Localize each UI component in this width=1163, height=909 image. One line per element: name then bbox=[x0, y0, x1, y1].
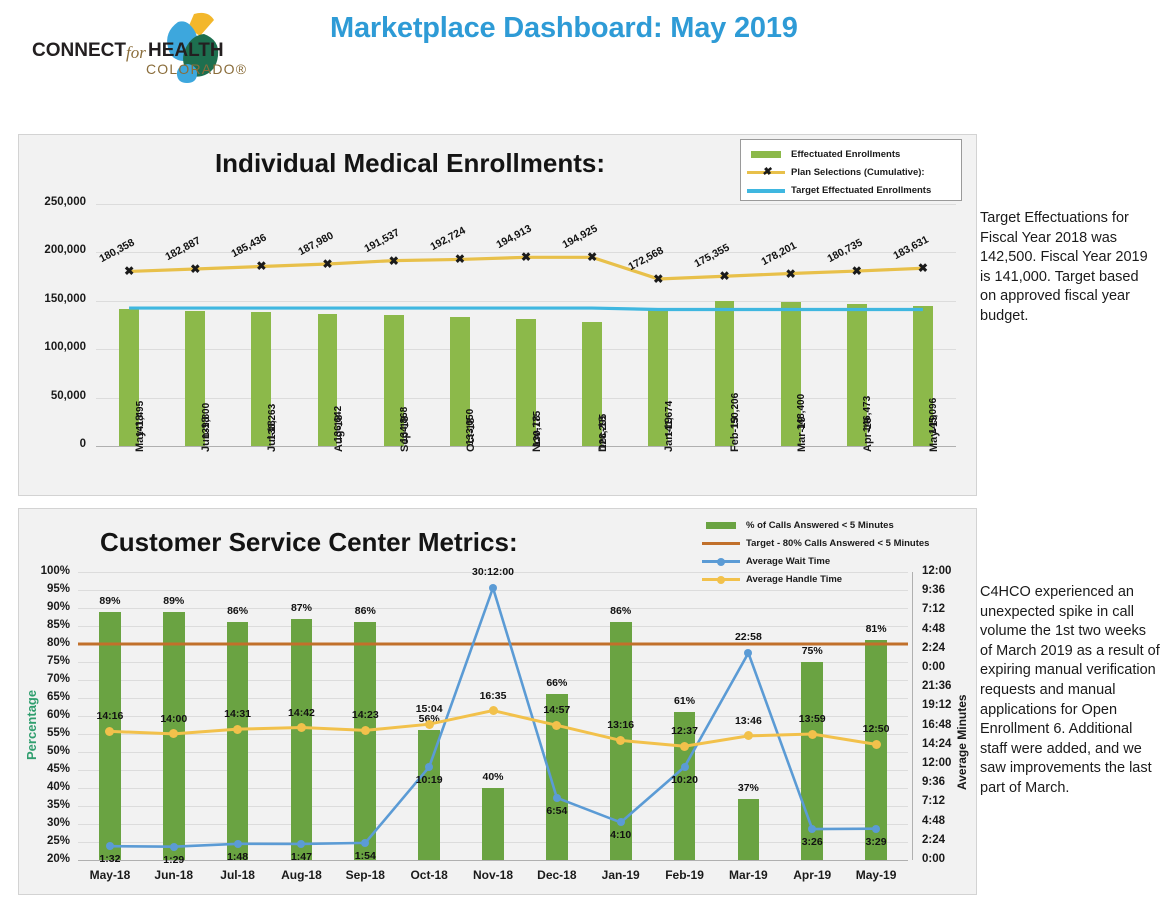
chart1-y-tick: 0 bbox=[10, 438, 86, 450]
legend-label: Plan Selections (Cumulative): bbox=[791, 167, 925, 178]
legend-label: Target - 80% Calls Answered < 5 Minutes bbox=[746, 538, 929, 549]
chart2-wait-time-point bbox=[234, 840, 242, 848]
connect-for-health-colorado-logo: CONNECT for HEALTH COLORADO® bbox=[18, 8, 248, 88]
chart2-x-label: Sep-18 bbox=[333, 868, 397, 882]
chart2-wait-time-label: 4:10 bbox=[585, 829, 657, 841]
chart2-y-tick-right: 12:00 bbox=[922, 565, 974, 577]
chart1-x-label: Jun-18 bbox=[200, 417, 212, 452]
legend-swatch-bar-icon bbox=[745, 148, 787, 160]
chart1-y-tick: 50,000 bbox=[10, 390, 86, 402]
chart2-handle-time-point bbox=[425, 720, 434, 729]
chart2-y-tick-right: 0:00 bbox=[922, 661, 974, 673]
chart1-plan-selection-marker-icon: ✖ bbox=[389, 256, 399, 266]
chart1-plan-selection-marker-icon: ✖ bbox=[719, 271, 729, 281]
chart2-y-axis-right bbox=[912, 572, 913, 860]
chart1-y-tick: 200,000 bbox=[10, 244, 86, 256]
legend-swatch-line-icon bbox=[745, 184, 787, 196]
chart2-y-tick-right: 16:48 bbox=[922, 719, 974, 731]
chart2-wait-time-point bbox=[872, 825, 880, 833]
legend-label: % of Calls Answered < 5 Minutes bbox=[746, 520, 894, 531]
chart2-y-tick-left: 60% bbox=[16, 709, 70, 721]
chart2-wait-time-label: 1:32 bbox=[74, 853, 146, 865]
chart2-x-label: May-18 bbox=[78, 868, 142, 882]
chart2-wait-time-point bbox=[681, 763, 689, 771]
chart1-y-tick: 250,000 bbox=[10, 196, 86, 208]
chart2-wait-time-point bbox=[553, 794, 561, 802]
legend-item-target-effectuated: Target Effectuated Enrollments bbox=[745, 182, 957, 198]
chart1-x-label: Apr-19 bbox=[862, 417, 874, 452]
chart1-x-label: Oct-18 bbox=[465, 418, 477, 452]
chart2-handle-time-label: 14:16 bbox=[80, 710, 140, 722]
chart1-x-label: Nov-18 bbox=[531, 415, 543, 452]
chart2-handle-time-label: 13:46 bbox=[718, 715, 778, 727]
chart2-y-tick-left: 70% bbox=[16, 673, 70, 685]
chart2-x-label: Jun-18 bbox=[142, 868, 206, 882]
chart2-handle-time-label: 12:50 bbox=[846, 723, 906, 735]
chart2-handle-time-label: 15:04 bbox=[399, 703, 459, 715]
chart2-y-tick-right: 2:24 bbox=[922, 642, 974, 654]
chart1-x-label: Mar-19 bbox=[796, 417, 808, 452]
chart2-y-tick-right: 7:12 bbox=[922, 603, 974, 615]
chart2-handle-time-label: 12:37 bbox=[655, 725, 715, 737]
chart1-plan-selection-marker-icon: ✖ bbox=[256, 261, 266, 271]
chart1-x-label: Sep-18 bbox=[399, 416, 411, 452]
chart2-y-tick-left: 25% bbox=[16, 835, 70, 847]
chart2-y-tick-right: 12:00 bbox=[922, 757, 974, 769]
chart2-y-tick-right: 9:36 bbox=[922, 776, 974, 788]
chart2-wait-time-label: 6:54 bbox=[521, 805, 593, 817]
chart1-x-axis bbox=[96, 446, 956, 447]
chart2-y-tick-left: 95% bbox=[16, 583, 70, 595]
chart1-x-label: Dec-18 bbox=[597, 416, 609, 452]
chart1-x-label: Jul-18 bbox=[266, 420, 278, 452]
page-header: CONNECT for HEALTH COLORADO® Marketplace… bbox=[0, 0, 1163, 125]
chart2-y-tick-left: 75% bbox=[16, 655, 70, 667]
chart2-y-tick-right: 4:48 bbox=[922, 623, 974, 635]
chart1-target-line bbox=[129, 308, 923, 309]
chart1-x-label: Aug-18 bbox=[333, 415, 345, 452]
chart1-plan-selection-marker-icon: ✖ bbox=[786, 269, 796, 279]
chart2-title: Customer Service Center Metrics: bbox=[20, 527, 580, 558]
chart1-plan-selection-marker-icon: ✖ bbox=[587, 252, 597, 262]
chart2-handle-time-label: 14:31 bbox=[208, 708, 268, 720]
chart2-handle-time-label: 13:59 bbox=[782, 713, 842, 725]
chart2-x-label: Feb-19 bbox=[653, 868, 717, 882]
chart2-wait-time-label: 1:48 bbox=[202, 851, 274, 863]
legend-swatch-line-dot-icon bbox=[700, 555, 742, 567]
chart2-handle-time-label: 16:35 bbox=[463, 690, 523, 702]
chart2-x-label: Aug-18 bbox=[269, 868, 333, 882]
legend-swatch-bar-icon bbox=[700, 519, 742, 531]
legend-swatch-line-marker-icon: ✖ bbox=[745, 166, 787, 178]
chart2-y-tick-right: 19:12 bbox=[922, 699, 974, 711]
chart2-x-label: Jan-19 bbox=[589, 868, 653, 882]
chart2-wait-time-label: 10:20 bbox=[649, 774, 721, 786]
chart1-plan-selection-marker-icon: ✖ bbox=[852, 266, 862, 276]
chart2-handle-time-point bbox=[808, 730, 817, 739]
chart1-plan-selection-marker-icon: ✖ bbox=[190, 264, 200, 274]
chart2-side-note: C4HCO experienced an unexpected spike in… bbox=[980, 583, 1160, 799]
chart2-y-tick-left: 40% bbox=[16, 781, 70, 793]
dashboard-title: Marketplace Dashboard: May 2019 bbox=[330, 12, 930, 45]
chart2-y-tick-left: 50% bbox=[16, 745, 70, 757]
chart1-plan-selection-marker-icon: ✖ bbox=[653, 274, 663, 284]
chart1-title: Individual Medical Enrollments: bbox=[110, 148, 710, 179]
chart2-handle-time-point bbox=[361, 726, 370, 735]
chart2-x-label: Nov-18 bbox=[461, 868, 525, 882]
logo-text-for: for bbox=[126, 43, 146, 62]
chart2-handle-time-label: 13:16 bbox=[591, 719, 651, 731]
chart1-x-label: Feb-19 bbox=[729, 417, 741, 452]
chart2-y-tick-right: 4:48 bbox=[922, 815, 974, 827]
chart1-side-note: Target Effectuations for Fiscal Year 201… bbox=[980, 209, 1158, 327]
chart2-wait-time-point bbox=[170, 843, 178, 851]
chart2-y-tick-right: 7:12 bbox=[922, 795, 974, 807]
chart1-x-label: May-18 bbox=[134, 415, 146, 452]
chart2-handle-time-point bbox=[872, 740, 881, 749]
chart1-y-tick: 150,000 bbox=[10, 293, 86, 305]
legend-swatch-line-icon bbox=[700, 537, 742, 549]
chart1-legend: Effectuated Enrollments ✖ Plan Selection… bbox=[740, 139, 962, 201]
chart2-y-tick-left: 20% bbox=[16, 853, 70, 865]
chart2-y-tick-right: 21:36 bbox=[922, 680, 974, 692]
chart2-handle-time-point bbox=[489, 706, 498, 715]
chart2-y-tick-left: 65% bbox=[16, 691, 70, 703]
logo-text-connect: CONNECT bbox=[32, 40, 126, 61]
chart2-handle-time-point bbox=[297, 723, 306, 732]
chart2-wait-time-label: 1:54 bbox=[329, 850, 401, 862]
chart2-x-label: Mar-19 bbox=[716, 868, 780, 882]
chart1-plan-selection-marker-icon: ✖ bbox=[918, 263, 928, 273]
legend-item-plan-selections: ✖ Plan Selections (Cumulative): bbox=[745, 164, 957, 180]
legend-label: Average Wait Time bbox=[746, 556, 830, 567]
chart2-y-tick-left: 35% bbox=[16, 799, 70, 811]
chart2-wait-time-label: 22:58 bbox=[712, 631, 784, 643]
chart2-y-tick-left: 30% bbox=[16, 817, 70, 829]
chart2-wait-time-label: 3:29 bbox=[840, 836, 912, 848]
chart1-x-label: Jan-19 bbox=[663, 417, 675, 452]
chart2-handle-time-point bbox=[233, 725, 242, 734]
legend-label: Target Effectuated Enrollments bbox=[791, 185, 931, 196]
chart1-plan-selection-marker-icon: ✖ bbox=[455, 254, 465, 264]
chart1-y-tick: 100,000 bbox=[10, 341, 86, 353]
chart2-x-label: Oct-18 bbox=[397, 868, 461, 882]
chart2-wait-time-label: 1:47 bbox=[265, 851, 337, 863]
legend-item-target-80: Target - 80% Calls Answered < 5 Minutes bbox=[700, 535, 962, 551]
chart2-handle-time-label: 14:42 bbox=[271, 707, 331, 719]
chart1-plan-selection-marker-icon: ✖ bbox=[323, 259, 333, 269]
logo-text-health: HEALTH bbox=[148, 40, 224, 61]
chart2-x-label: Dec-18 bbox=[525, 868, 589, 882]
chart2-wait-time-label: 30:12:00 bbox=[457, 566, 529, 578]
chart2-y-tick-right: 2:24 bbox=[922, 834, 974, 846]
chart2-wait-time-label: 3:26 bbox=[776, 836, 848, 848]
chart2-wait-time-point bbox=[489, 584, 497, 592]
chart2-y-tick-left: 45% bbox=[16, 763, 70, 775]
chart2-handle-time-point bbox=[680, 742, 689, 751]
chart2-y-tick-left: 55% bbox=[16, 727, 70, 739]
chart2-y-tick-left: 90% bbox=[16, 601, 70, 613]
chart2-y-tick-left: 100% bbox=[16, 565, 70, 577]
chart2-wait-time-label: 10:19 bbox=[393, 774, 465, 786]
chart2-y-tick-left: 80% bbox=[16, 637, 70, 649]
chart2-handle-time-label: 14:00 bbox=[144, 713, 204, 725]
chart2-y-tick-right: 9:36 bbox=[922, 584, 974, 596]
chart1-plot-area: 050,000100,000150,000200,000250,000141,4… bbox=[96, 204, 956, 446]
chart2-y-tick-right: 14:24 bbox=[922, 738, 974, 750]
chart2-x-label: Jul-18 bbox=[206, 868, 270, 882]
chart2-x-label: May-19 bbox=[844, 868, 908, 882]
legend-item-effectuated-enrollments: Effectuated Enrollments bbox=[745, 146, 957, 162]
chart2-x-label: Apr-19 bbox=[780, 868, 844, 882]
chart1-lines bbox=[96, 204, 956, 446]
chart2-wait-time-label: 1:29 bbox=[138, 854, 210, 866]
chart1-x-label: May-19 bbox=[928, 415, 940, 452]
chart2-handle-time-label: 14:23 bbox=[335, 709, 395, 721]
chart2-plot-area: 20%25%30%35%40%45%50%55%60%65%70%75%80%8… bbox=[78, 572, 908, 860]
legend-item-calls-answered: % of Calls Answered < 5 Minutes bbox=[700, 517, 962, 533]
chart1-plan-selection-marker-icon: ✖ bbox=[124, 266, 134, 276]
logo-text-colorado: COLORADO® bbox=[146, 61, 247, 77]
chart1-plan-selection-marker-icon: ✖ bbox=[521, 252, 531, 262]
legend-label: Effectuated Enrollments bbox=[791, 149, 900, 160]
chart2-y-tick-right: 0:00 bbox=[922, 853, 974, 865]
chart2-handle-time-label: 14:57 bbox=[527, 704, 587, 716]
chart2-y-tick-left: 85% bbox=[16, 619, 70, 631]
